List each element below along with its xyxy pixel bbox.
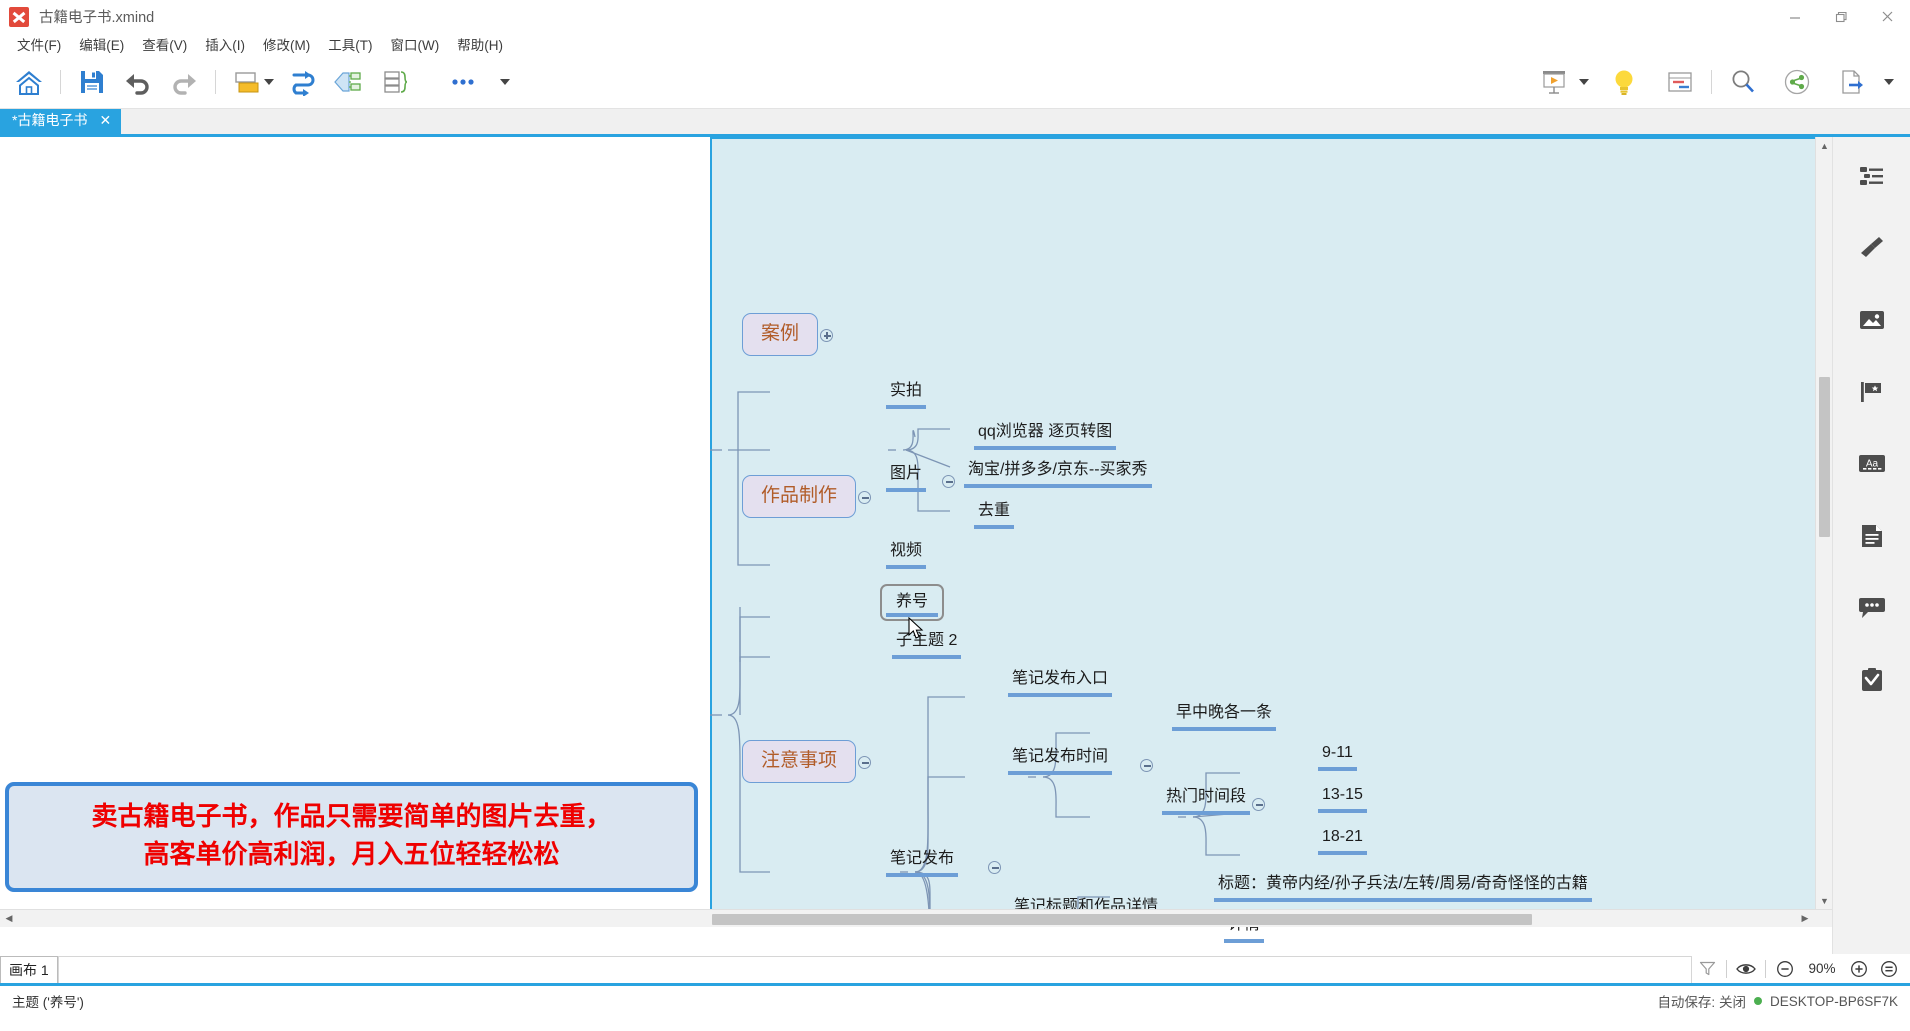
redo-icon[interactable] bbox=[161, 59, 207, 105]
branch-node-zhuyishixiang[interactable]: 注意事项 bbox=[742, 740, 856, 783]
collapse-toggle-zhuyishixiang[interactable] bbox=[858, 756, 871, 769]
toolbar-right-group bbox=[1531, 59, 1900, 105]
menu-insert[interactable]: 插入(I) bbox=[196, 32, 254, 56]
central-banner[interactable]: 卖古籍电子书，作品只需要简单的图片去重， 高客单价高利润，月入五位轻轻松松 bbox=[5, 782, 698, 892]
undo-icon[interactable] bbox=[115, 59, 161, 105]
presentation-dropdown-caret[interactable] bbox=[1579, 79, 1589, 85]
branch-node-anli[interactable]: 案例 bbox=[742, 313, 818, 356]
collapse-toggle-biji-fabu[interactable] bbox=[988, 861, 1001, 874]
sheet-tab-empty-area[interactable] bbox=[58, 956, 1692, 983]
more-icon[interactable] bbox=[440, 59, 486, 105]
topic-node-tupian[interactable]: 图片 bbox=[886, 462, 926, 492]
document-tabstrip: *古籍电子书 ✕ bbox=[0, 109, 1910, 137]
save-icon[interactable] bbox=[69, 59, 115, 105]
share-icon[interactable] bbox=[1774, 59, 1820, 105]
zoom-in-button[interactable] bbox=[1844, 955, 1874, 983]
canvas-vertical-scrollbar[interactable]: ▲ ▼ bbox=[1815, 137, 1832, 927]
menu-help[interactable]: 帮助(H) bbox=[448, 32, 512, 56]
branch-node-zuopinzhizuo[interactable]: 作品制作 bbox=[742, 475, 856, 518]
notes-rail-icon[interactable] bbox=[1855, 519, 1889, 553]
sheetbar-separator-2 bbox=[1765, 960, 1766, 978]
topic-node-yanghao-selected[interactable]: 养号 bbox=[880, 584, 944, 621]
right-sidebar-rail: Aa bbox=[1832, 137, 1910, 954]
collapse-toggle-tupian[interactable] bbox=[942, 475, 955, 488]
menu-tools[interactable]: 工具(T) bbox=[319, 32, 381, 56]
scroll-right-arrow-icon[interactable]: ▶ bbox=[1796, 910, 1814, 928]
topic-node-shipai[interactable]: 实拍 bbox=[886, 379, 926, 409]
brainstorm-icon[interactable] bbox=[1601, 59, 1647, 105]
status-selection-label: 主题 ('养号') bbox=[12, 991, 84, 1011]
banner-line-2: 高客单价高利润，月入五位轻轻松松 bbox=[91, 837, 611, 875]
mindmap-board[interactable]: 卖古籍电子书，作品只需要简单的图片去重， 高客单价高利润，月入五位轻轻松松 bbox=[0, 137, 1832, 927]
document-tab-label: *古籍电子书 bbox=[12, 110, 87, 130]
xmind-logo-icon bbox=[9, 7, 29, 27]
fit-to-screen-icon[interactable] bbox=[1874, 955, 1904, 983]
zoom-out-button[interactable] bbox=[1770, 955, 1800, 983]
collapse-toggle-zuopinzhizuo[interactable] bbox=[858, 491, 871, 504]
home-icon[interactable] bbox=[6, 59, 52, 105]
topic-node-zhuti2[interactable]: 子主题 2 bbox=[892, 629, 961, 659]
title-bar: 古籍电子书.xmind bbox=[0, 0, 1910, 33]
sheetbar-separator-1 bbox=[1726, 960, 1727, 978]
mouse-cursor bbox=[908, 617, 924, 641]
sheet-tab-canvas1[interactable]: 画布 1 bbox=[0, 956, 58, 983]
topic-dropdown-caret[interactable] bbox=[264, 79, 274, 85]
window-title: 古籍电子书.xmind bbox=[39, 6, 154, 27]
search-icon[interactable] bbox=[1720, 59, 1766, 105]
horizontal-scroll-thumb[interactable] bbox=[712, 914, 1532, 925]
status-bar: 主题 ('养号') 自动保存: 关闭 DESKTOP-BP6SF7K bbox=[0, 986, 1910, 1016]
comment-rail-icon[interactable] bbox=[1855, 591, 1889, 625]
brush-rail-icon[interactable] bbox=[1855, 231, 1889, 265]
outline-icon[interactable] bbox=[372, 59, 418, 105]
window-controls bbox=[1772, 0, 1910, 33]
outline-rail-icon[interactable] bbox=[1855, 159, 1889, 193]
maximize-button[interactable] bbox=[1818, 0, 1864, 33]
topic-node-biji-fabu[interactable]: 笔记发布 bbox=[886, 847, 958, 877]
structure-icon[interactable] bbox=[326, 59, 372, 105]
topic-node-biji-fabu-rukou[interactable]: 笔记发布入口 bbox=[1008, 667, 1112, 697]
sheet-bar-controls: 90% bbox=[1692, 954, 1910, 983]
menu-window[interactable]: 窗口(W) bbox=[382, 32, 449, 56]
more-dropdown-caret[interactable] bbox=[500, 79, 510, 85]
main-area: 卖古籍电子书，作品只需要简单的图片去重， 高客单价高利润，月入五位轻轻松松 bbox=[0, 137, 1910, 954]
topic-node-biaoti-list[interactable]: 标题：黄帝内经/孙子兵法/左转/周易/奇奇怪怪的古籍 bbox=[1214, 872, 1592, 902]
vertical-scroll-thumb[interactable] bbox=[1819, 377, 1830, 537]
banner-line-1: 卖古籍电子书，作品只需要简单的图片去重， bbox=[91, 799, 611, 837]
status-right-group: 自动保存: 关闭 DESKTOP-BP6SF7K bbox=[1657, 991, 1898, 1011]
menu-edit[interactable]: 编辑(E) bbox=[70, 32, 133, 56]
topic-node-biji-fabu-shijian[interactable]: 笔记发布时间 bbox=[1008, 745, 1112, 775]
zoom-level-label[interactable]: 90% bbox=[1800, 961, 1844, 976]
scroll-down-arrow-icon[interactable]: ▼ bbox=[1816, 892, 1832, 909]
topic-node-9-11[interactable]: 9-11 bbox=[1318, 741, 1357, 771]
presentation-icon[interactable] bbox=[1531, 59, 1577, 105]
flag-rail-icon[interactable] bbox=[1855, 375, 1889, 409]
export-dropdown-caret[interactable] bbox=[1884, 79, 1894, 85]
export-icon[interactable] bbox=[1828, 59, 1874, 105]
eye-icon[interactable] bbox=[1731, 955, 1761, 983]
main-toolbar bbox=[0, 55, 1910, 109]
close-button[interactable] bbox=[1864, 0, 1910, 33]
task-rail-icon[interactable] bbox=[1855, 663, 1889, 697]
topic-node-remen-shijianduan[interactable]: 热门时间段 bbox=[1162, 785, 1250, 815]
topic-node-zaozhongwan[interactable]: 早中晚各一条 bbox=[1172, 701, 1276, 731]
topic-node-qqliulanqi[interactable]: qq浏览器 逐页转图 bbox=[974, 420, 1116, 450]
menu-file[interactable]: 文件(F) bbox=[8, 32, 70, 56]
topic-node-quchong[interactable]: 去重 bbox=[974, 499, 1014, 529]
scroll-left-arrow-icon[interactable]: ◀ bbox=[0, 910, 18, 928]
topic-node-yanghao-label: 养号 bbox=[896, 593, 928, 610]
topic-node-18-21[interactable]: 18-21 bbox=[1318, 825, 1367, 855]
scroll-up-arrow-icon[interactable]: ▲ bbox=[1816, 137, 1832, 154]
filter-icon[interactable] bbox=[1692, 955, 1722, 983]
notes-panel-icon[interactable] bbox=[1657, 59, 1703, 105]
canvas-wrapper[interactable]: 卖古籍电子书，作品只需要简单的图片去重， 高客单价高利润，月入五位轻轻松松 bbox=[0, 137, 1832, 954]
status-device-label: DESKTOP-BP6SF7K bbox=[1770, 994, 1898, 1009]
status-autosave-label: 自动保存: 关闭 bbox=[1657, 991, 1746, 1011]
collapse-toggle-anli[interactable] bbox=[820, 329, 833, 342]
canvas-horizontal-scrollbar[interactable]: ◀ ▶ bbox=[0, 909, 1832, 927]
menu-modify[interactable]: 修改(M) bbox=[254, 32, 319, 56]
sheet-tab-bar: 画布 1 90% bbox=[0, 954, 1910, 986]
document-tab[interactable]: *古籍电子书 ✕ bbox=[0, 106, 121, 134]
menu-view[interactable]: 查看(V) bbox=[133, 32, 196, 56]
mindmap-viewport[interactable] bbox=[710, 137, 1832, 927]
topic-node-taobao[interactable]: 淘宝/拼多多/京东--买家秀 bbox=[964, 458, 1152, 488]
collapse-toggle-remen-shijianduan[interactable] bbox=[1252, 798, 1265, 811]
document-tab-close-icon[interactable]: ✕ bbox=[99, 112, 111, 129]
svg-text:Aa: Aa bbox=[1865, 459, 1878, 470]
topic-node-shipin[interactable]: 视频 bbox=[886, 539, 926, 569]
text-rail-icon[interactable]: Aa bbox=[1855, 447, 1889, 481]
menu-bar: 文件(F) 编辑(E) 查看(V) 插入(I) 修改(M) 工具(T) 窗口(W… bbox=[0, 33, 1910, 55]
toolbar-separator-3 bbox=[1711, 70, 1712, 94]
topic-node-13-15[interactable]: 13-15 bbox=[1318, 783, 1367, 813]
collapse-toggle-biji-fabu-shijian[interactable] bbox=[1140, 759, 1153, 772]
minimize-button[interactable] bbox=[1772, 0, 1818, 33]
relationship-icon[interactable] bbox=[280, 59, 326, 105]
status-online-dot-icon bbox=[1754, 997, 1762, 1005]
image-rail-icon[interactable] bbox=[1855, 303, 1889, 337]
toolbar-separator-1 bbox=[60, 70, 61, 94]
toolbar-separator-2 bbox=[215, 70, 216, 94]
